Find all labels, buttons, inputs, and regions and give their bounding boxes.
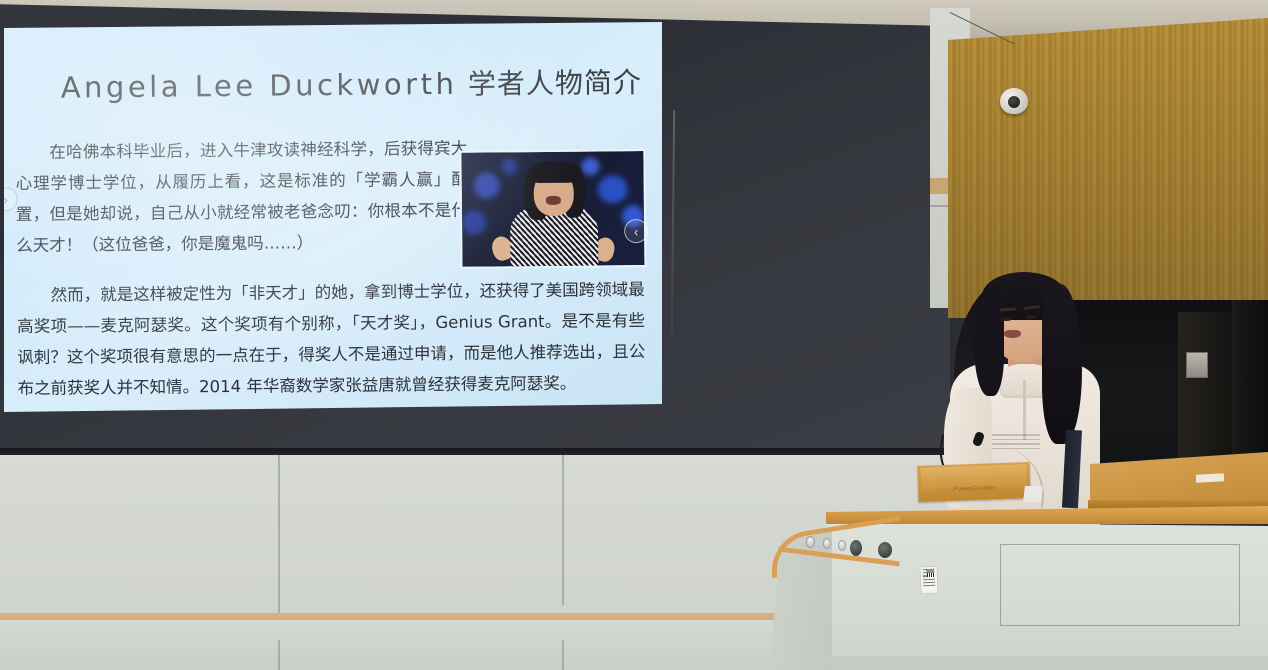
- photo-speaker-mouth: [546, 196, 561, 205]
- presenter-hair-right: [1042, 284, 1082, 444]
- lecture-hall-photo: Angela Lee Duckworth 学者人物简介 在哈佛本科毕业后，进入牛…: [0, 0, 1268, 670]
- wall-seam: [562, 455, 564, 605]
- lectern-cabinet-door[interactable]: [1000, 544, 1240, 626]
- photo-speaker-hair-top: [529, 161, 577, 183]
- lectern-button[interactable]: [823, 538, 831, 549]
- slide-paragraph-1: 在哈佛本科毕业后，进入牛津攻读神经科学，后获得宾大心理学博士学位，从履历上看，这…: [15, 133, 468, 261]
- presenter-eye-left: [1001, 317, 1012, 321]
- presenter-eye-right: [1025, 315, 1036, 319]
- presenter-mouth: [1004, 330, 1021, 338]
- wall-seam: [278, 455, 280, 615]
- presenter-zipper: [1023, 380, 1026, 440]
- lectern-base: [830, 656, 1268, 670]
- wall-seam: [562, 640, 564, 670]
- slide-title: Angela Lee Duckworth 学者人物简介: [61, 61, 641, 107]
- chevron-left-icon[interactable]: ‹: [624, 219, 648, 243]
- lectern-port[interactable]: [878, 542, 892, 558]
- lectern-button[interactable]: [838, 540, 846, 551]
- slide-title-english: Angela Lee Duckworth: [61, 67, 458, 105]
- projected-slide: Angela Lee Duckworth 学者人物简介 在哈佛本科毕业后，进入牛…: [4, 22, 662, 412]
- slide-paragraph-2: 然而，就是这样被定性为「非天才」的她，拿到博士学位，还获得了美国跨领域最高奖项—…: [17, 274, 646, 404]
- slide-photo: [459, 149, 646, 269]
- door-hinge: [1186, 352, 1208, 378]
- slide-title-chinese: 学者人物简介: [468, 66, 642, 101]
- lectern-port[interactable]: [850, 540, 862, 556]
- wall-seam: [278, 640, 280, 670]
- presenter-hair-left: [974, 286, 1004, 396]
- asset-sticker: [920, 566, 939, 595]
- lectern-button[interactable]: [806, 536, 815, 548]
- camera-lens-icon: [1008, 96, 1020, 108]
- lectern: [770, 470, 1268, 670]
